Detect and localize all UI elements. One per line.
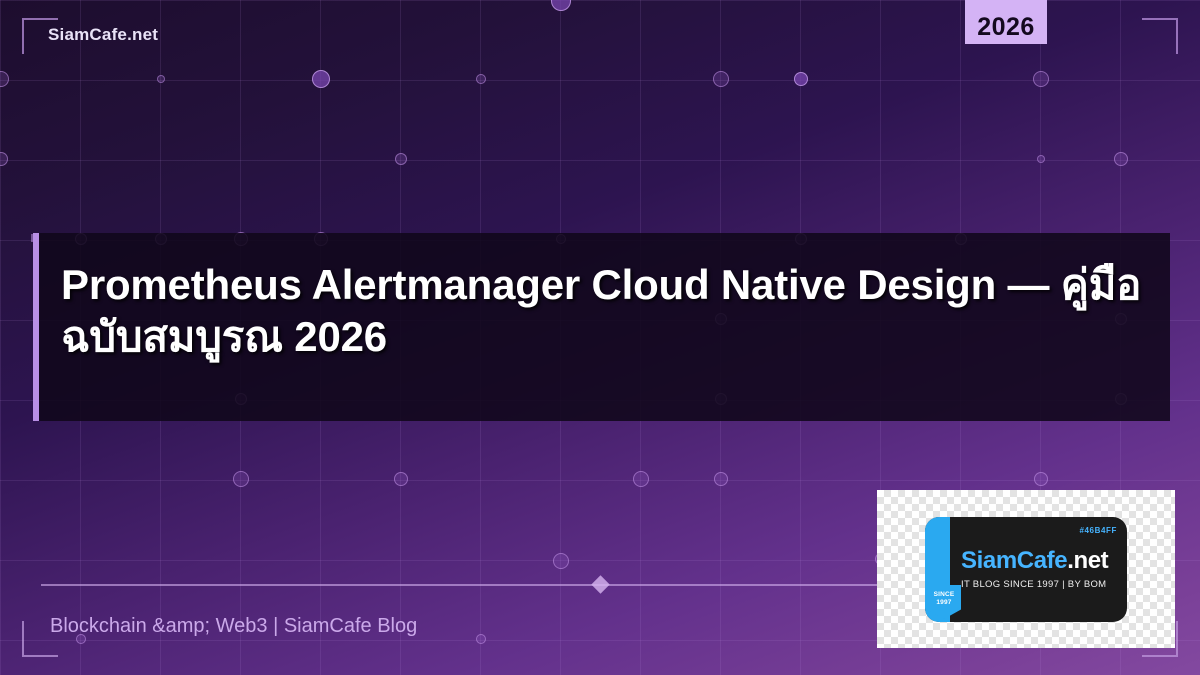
diamond-marker-icon <box>591 575 609 593</box>
logo-wordmark-suffix: .net <box>1067 547 1108 574</box>
grid-dot <box>1114 152 1128 166</box>
since-badge-line2: 1997 <box>927 599 961 607</box>
grid-dot <box>394 472 408 486</box>
grid-dot <box>476 634 486 644</box>
grid-dot <box>395 153 407 165</box>
grid-dot <box>157 75 165 83</box>
page-title: Prometheus Alertmanager Cloud Native Des… <box>61 233 1161 363</box>
grid-dot <box>794 72 808 86</box>
grid-dot <box>1037 155 1045 163</box>
grid-dot <box>714 472 728 486</box>
grid-dot <box>312 70 330 88</box>
footer-category-label: Blockchain &amp; Web3 | SiamCafe Blog <box>50 615 417 638</box>
grid-dot <box>233 471 249 487</box>
year-badge: 2026 <box>965 0 1047 44</box>
site-name-label: SiamCafe.net <box>48 25 158 45</box>
brand-hex-label: #46B4FF <box>1079 526 1117 535</box>
grid-dot <box>633 471 649 487</box>
grid-dot <box>551 0 571 11</box>
grid-dot <box>713 71 729 87</box>
logo-wordmark: SiamCafe.net <box>961 547 1108 575</box>
grid-dot <box>0 71 9 87</box>
corner-bracket-top-right <box>1142 18 1178 54</box>
since-badge-line1: SINCE <box>927 591 961 599</box>
logo-tagline: IT BLOG SINCE 1997 | BY BOM <box>961 579 1106 590</box>
grid-dot <box>1034 472 1048 486</box>
logo-wordmark-primary: SiamCafe <box>961 547 1067 574</box>
grid-dot <box>476 74 486 84</box>
logo-plate: #46B4FF SiamCafe.net IT BLOG SINCE 1997 … <box>925 517 1127 622</box>
grid-dot <box>1033 71 1049 87</box>
grid-dot <box>0 152 8 166</box>
title-banner: Prometheus Alertmanager Cloud Native Des… <box>33 233 1170 421</box>
social-card-canvas: SiamCafe.net 2026 Prometheus Alertmanage… <box>0 0 1200 675</box>
logo-card: #46B4FF SiamCafe.net IT BLOG SINCE 1997 … <box>877 490 1175 648</box>
grid-dot <box>553 553 569 569</box>
